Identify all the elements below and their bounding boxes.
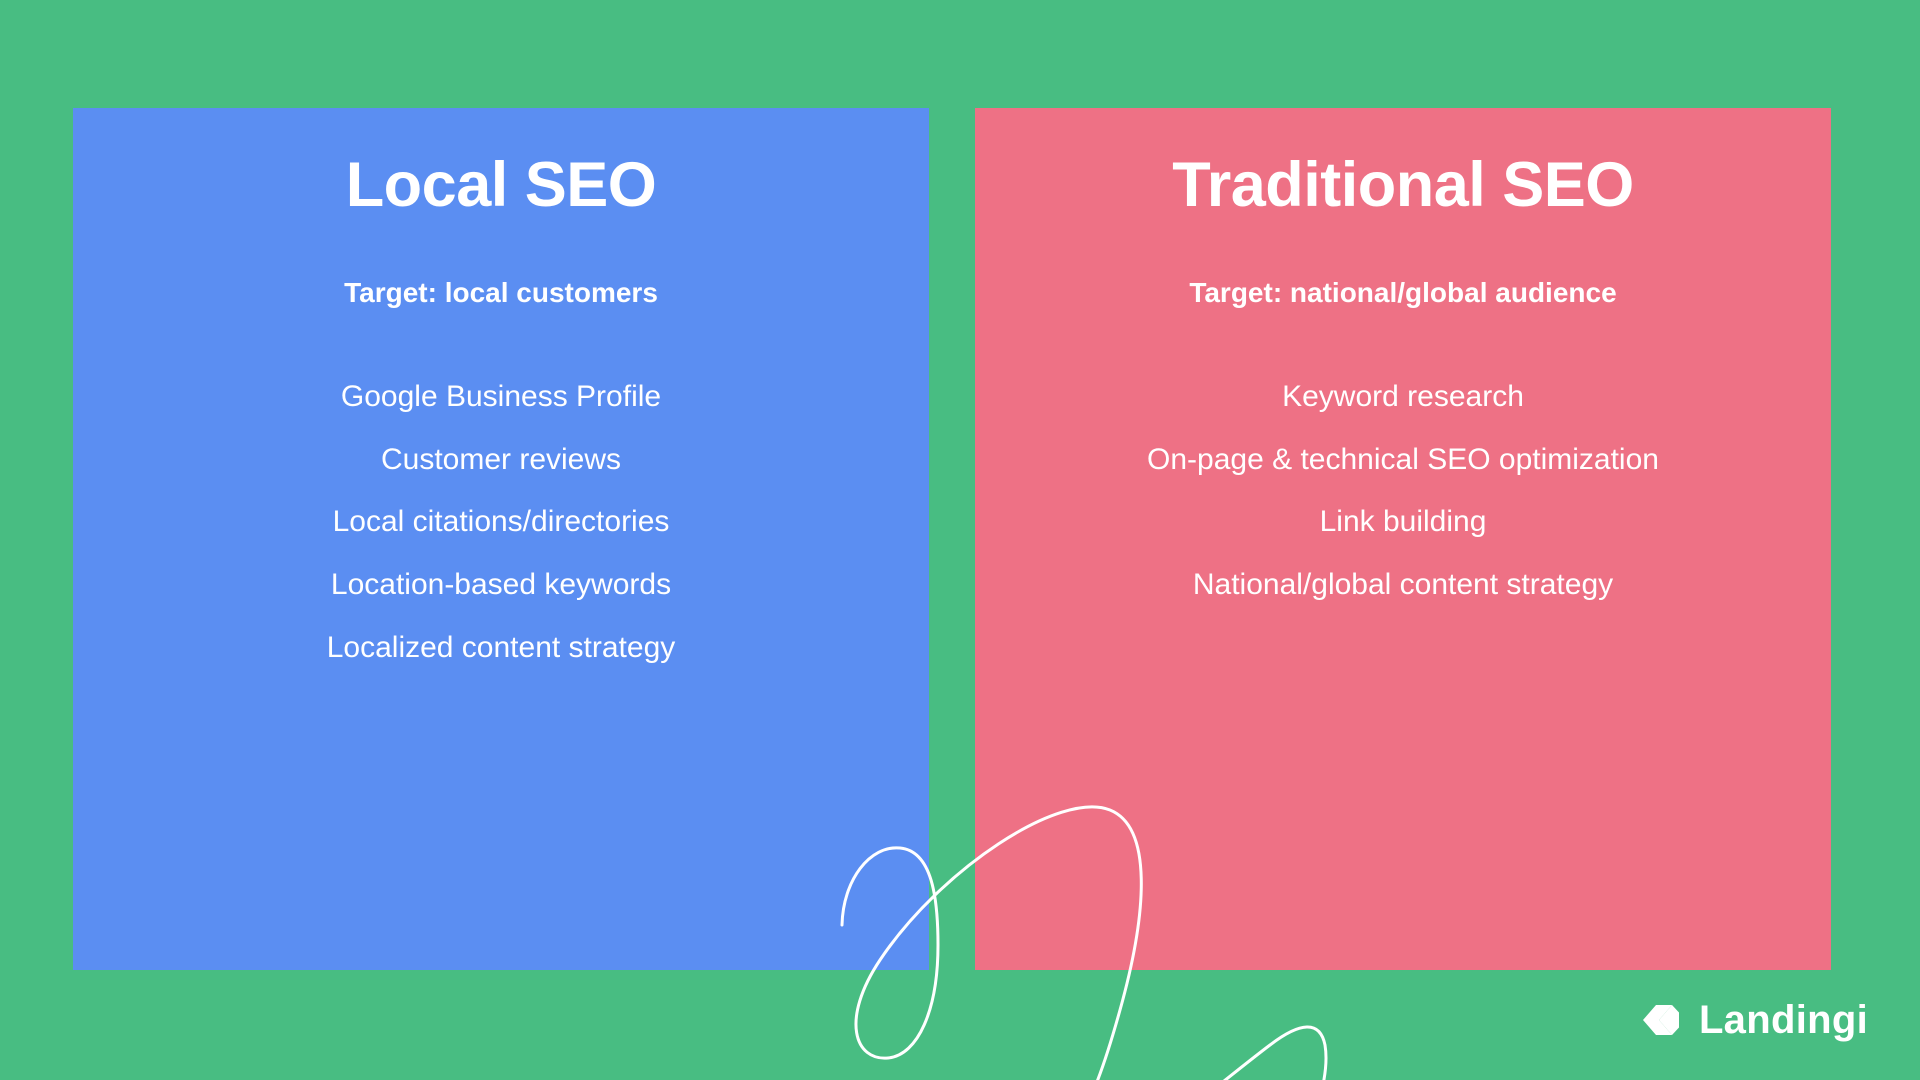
list-item: Localized content strategy <box>101 617 901 680</box>
card-local-seo-list: Google Business Profile Customer reviews… <box>101 366 901 679</box>
card-traditional-seo-title: Traditional SEO <box>1172 151 1634 220</box>
list-item: Keyword research <box>1003 366 1803 429</box>
landingi-diamond-icon <box>1639 998 1683 1042</box>
list-item: Location-based keywords <box>101 554 901 617</box>
list-item: Google Business Profile <box>101 366 901 429</box>
infographic-canvas: Local SEO Target: local customers Google… <box>0 0 1920 1080</box>
card-local-seo-title: Local SEO <box>346 151 657 220</box>
brand-logo: Landingi <box>1639 998 1868 1042</box>
list-item: On-page & technical SEO optimization <box>1003 429 1803 492</box>
card-local-seo: Local SEO Target: local customers Google… <box>73 108 929 970</box>
card-traditional-seo-target: Target: national/global audience <box>1189 277 1616 309</box>
card-local-seo-target: Target: local customers <box>344 277 658 309</box>
list-item: Customer reviews <box>101 429 901 492</box>
list-item: Local citations/directories <box>101 491 901 554</box>
squiggle-path-right <box>1067 1027 1326 1080</box>
card-traditional-seo: Traditional SEO Target: national/global … <box>975 108 1831 970</box>
card-traditional-seo-list: Keyword research On-page & technical SEO… <box>1003 366 1803 616</box>
list-item: Link building <box>1003 491 1803 554</box>
brand-name: Landingi <box>1699 1000 1868 1040</box>
list-item: National/global content strategy <box>1003 554 1803 617</box>
